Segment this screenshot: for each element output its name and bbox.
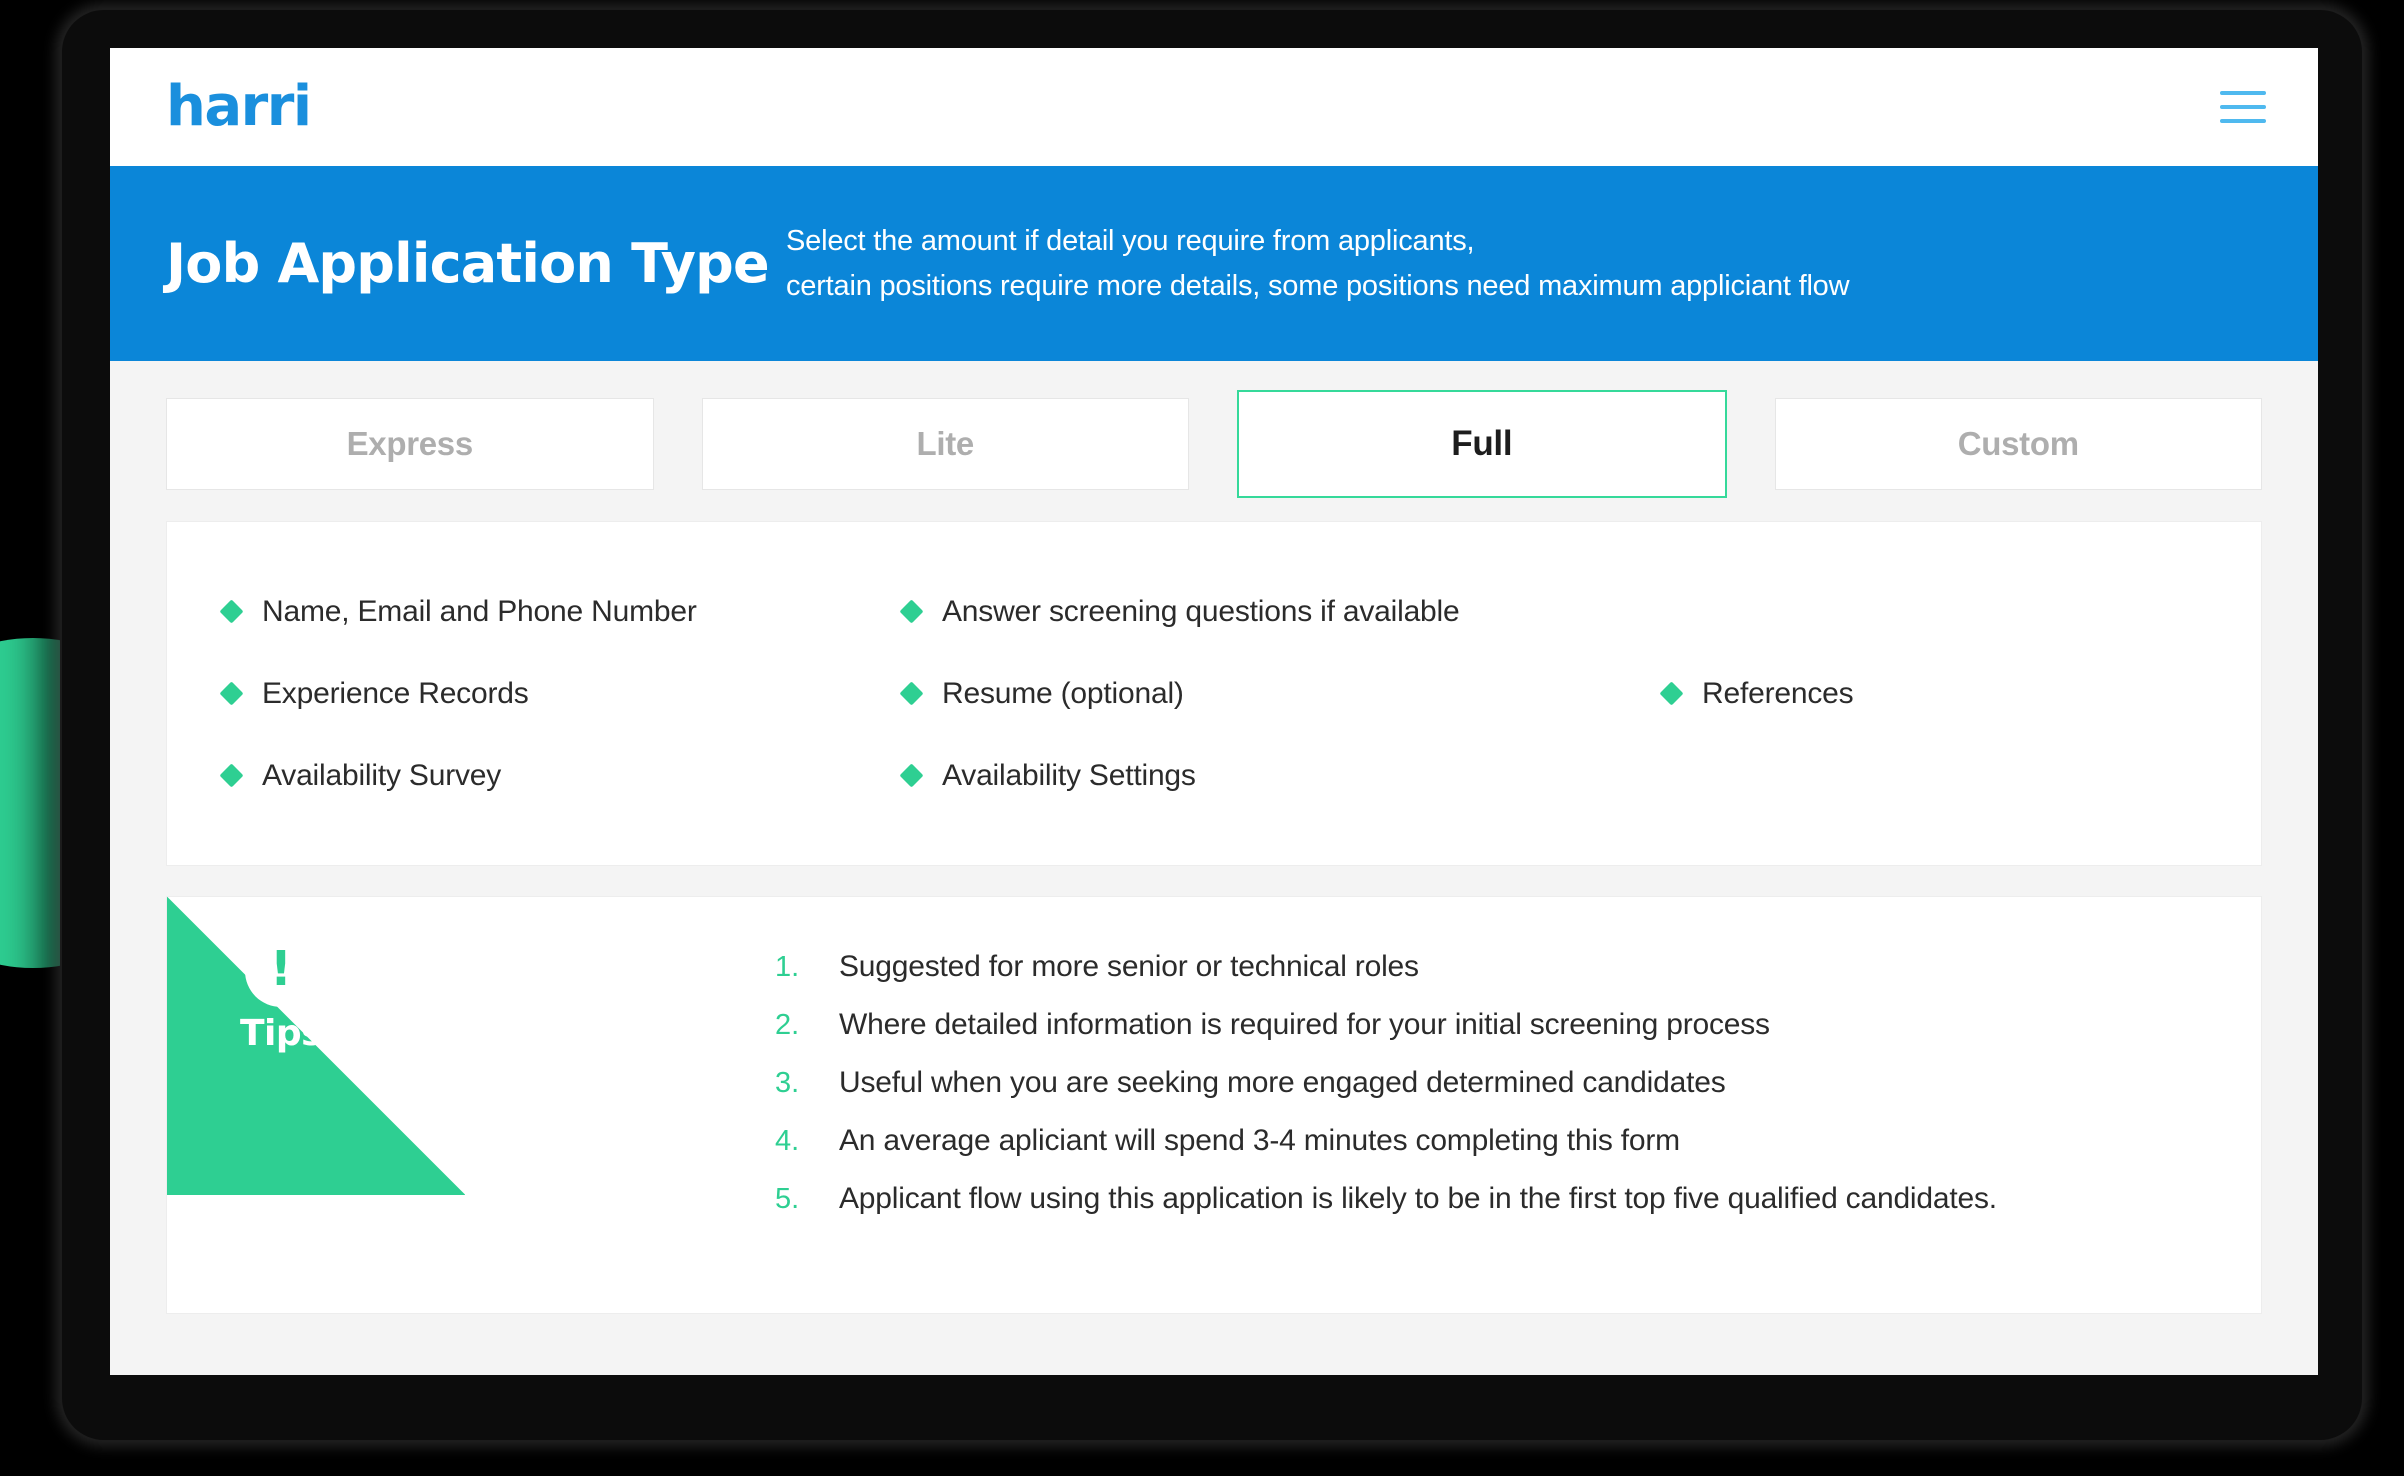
tips-badge: ! Tips — [211, 935, 351, 1054]
hamburger-line-1 — [2220, 91, 2266, 95]
list-item: 2. Where detailed information is require… — [775, 1007, 2221, 1043]
hamburger-line-2 — [2220, 105, 2266, 109]
page-banner: Job Application Type Select the amount i… — [110, 166, 2318, 361]
page-subtitle: Select the amount if detail you require … — [786, 219, 1849, 309]
list-item: 3. Useful when you are seeking more enga… — [775, 1065, 2221, 1101]
tips-label: Tips — [240, 1013, 322, 1054]
tip-number: 3. — [775, 1067, 821, 1100]
green-diamond-bullet-icon — [899, 599, 923, 623]
feature-item: Name, Email and Phone Number — [223, 597, 903, 627]
page-subtitle-line-2: certain positions require more details, … — [786, 264, 1849, 309]
tip-number: 4. — [775, 1125, 821, 1158]
page-subtitle-line-1: Select the amount if detail you require … — [786, 219, 1849, 264]
feature-column-2: Answer screening questions if available … — [903, 597, 1663, 791]
tab-custom[interactable]: Custom — [1775, 398, 2263, 490]
tip-text: Where detailed information is required f… — [839, 1007, 1770, 1043]
application-type-tabs: Express Lite Full Custom — [166, 389, 2262, 499]
tab-lite[interactable]: Lite — [702, 398, 1190, 490]
tip-number: 5. — [775, 1183, 821, 1216]
hamburger-menu-icon[interactable] — [2220, 85, 2276, 129]
feature-label: Answer screening questions if available — [942, 597, 1460, 627]
list-item: 5. Applicant flow using this application… — [775, 1181, 2221, 1217]
feature-label: Name, Email and Phone Number — [262, 597, 697, 627]
feature-column-1: Name, Email and Phone Number Experience … — [223, 597, 903, 791]
tip-text: Useful when you are seeking more engaged… — [839, 1065, 1726, 1101]
app-topbar: harri — [110, 48, 2318, 166]
green-diamond-bullet-icon — [899, 763, 923, 787]
main-content: Express Lite Full Custom Name, Email and… — [110, 361, 2318, 1314]
feature-item: Availability Survey — [223, 761, 903, 791]
feature-item: Availability Settings — [903, 761, 1663, 791]
tab-full[interactable]: Full — [1237, 390, 1727, 498]
tip-number: 2. — [775, 1009, 821, 1042]
hamburger-line-3 — [2220, 119, 2266, 123]
page-title: Job Application Type — [166, 234, 786, 293]
green-diamond-bullet-icon — [219, 681, 243, 705]
tip-text: Applicant flow using this application is… — [839, 1181, 1997, 1217]
tip-text: An average apliciant will spend 3-4 minu… — [839, 1123, 1680, 1159]
tips-list: 1. Suggested for more senior or technica… — [775, 949, 2221, 1217]
tab-express[interactable]: Express — [166, 398, 654, 490]
green-diamond-bullet-icon — [219, 599, 243, 623]
tip-text: Suggested for more senior or technical r… — [839, 949, 1419, 985]
harri-logo[interactable]: harri — [166, 79, 311, 135]
feature-column-3: References — [1663, 679, 2205, 709]
green-diamond-bullet-icon — [219, 763, 243, 787]
green-diamond-bullet-icon — [899, 681, 923, 705]
feature-item: Resume (optional) — [903, 679, 1663, 709]
exclamation-mark-icon: ! — [245, 935, 317, 1007]
feature-item: Answer screening questions if available — [903, 597, 1663, 627]
tips-card: ! Tips 1. Suggested for more senior or t… — [166, 896, 2262, 1314]
feature-item: Experience Records — [223, 679, 903, 709]
tablet-screen: harri Job Application Type Select the am… — [110, 48, 2318, 1375]
feature-label: Availability Settings — [942, 761, 1196, 791]
feature-label: Availability Survey — [262, 761, 501, 791]
list-item: 1. Suggested for more senior or technica… — [775, 949, 2221, 985]
list-item: 4. An average apliciant will spend 3-4 m… — [775, 1123, 2221, 1159]
feature-label: References — [1702, 679, 1853, 709]
tip-number: 1. — [775, 951, 821, 984]
feature-label: Resume (optional) — [942, 679, 1184, 709]
feature-list-card: Name, Email and Phone Number Experience … — [166, 521, 2262, 866]
green-diamond-bullet-icon — [1659, 681, 1683, 705]
feature-item: References — [1663, 679, 2205, 709]
feature-label: Experience Records — [262, 679, 529, 709]
